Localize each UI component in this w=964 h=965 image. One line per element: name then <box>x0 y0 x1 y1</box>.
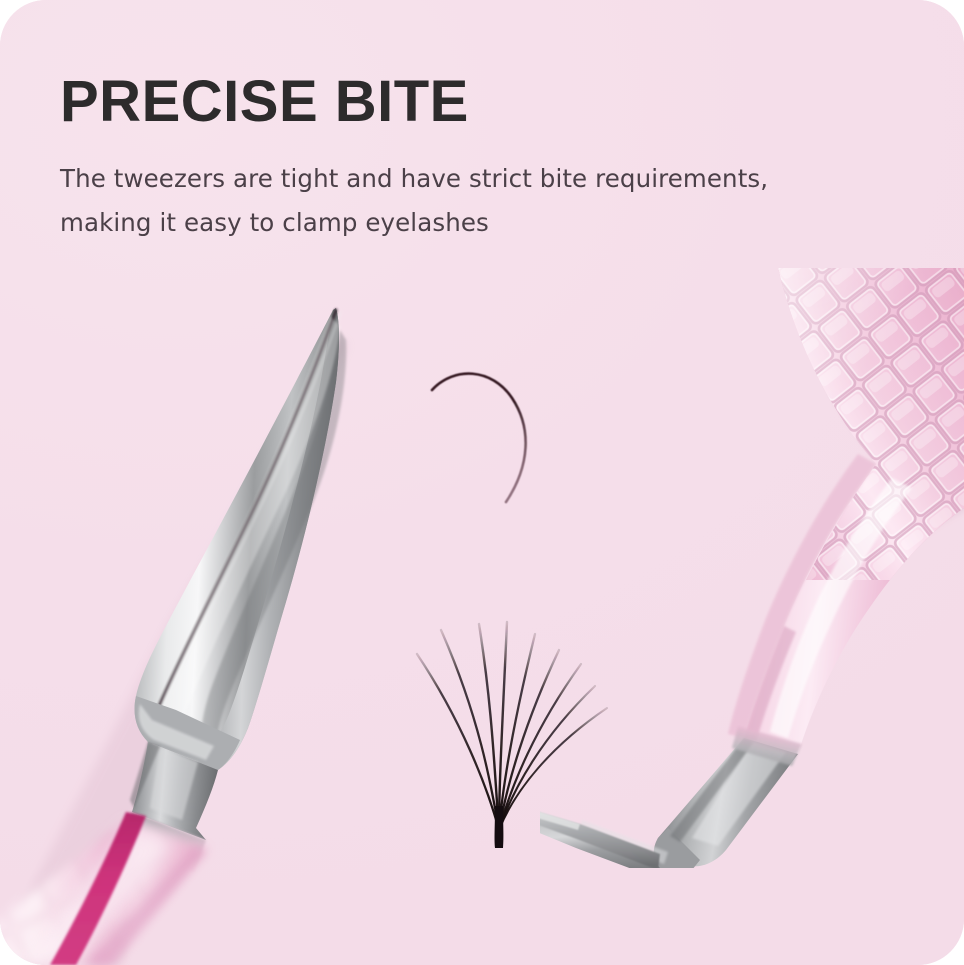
feature-description-line-2: making it easy to clamp eyelashes <box>60 201 850 245</box>
product-feature-image: PRECISE BITE The tweezers are tight and … <box>0 0 964 965</box>
pink-card-background: PRECISE BITE The tweezers are tight and … <box>0 0 964 965</box>
volume-lash-fan <box>395 600 660 850</box>
feature-description: The tweezers are tight and have strict b… <box>60 131 850 244</box>
single-eyelash <box>380 350 570 550</box>
feature-text-block: PRECISE BITE The tweezers are tight and … <box>60 72 850 244</box>
page-title: PRECISE BITE <box>60 72 850 131</box>
feature-description-line-1: The tweezers are tight and have strict b… <box>60 157 850 201</box>
